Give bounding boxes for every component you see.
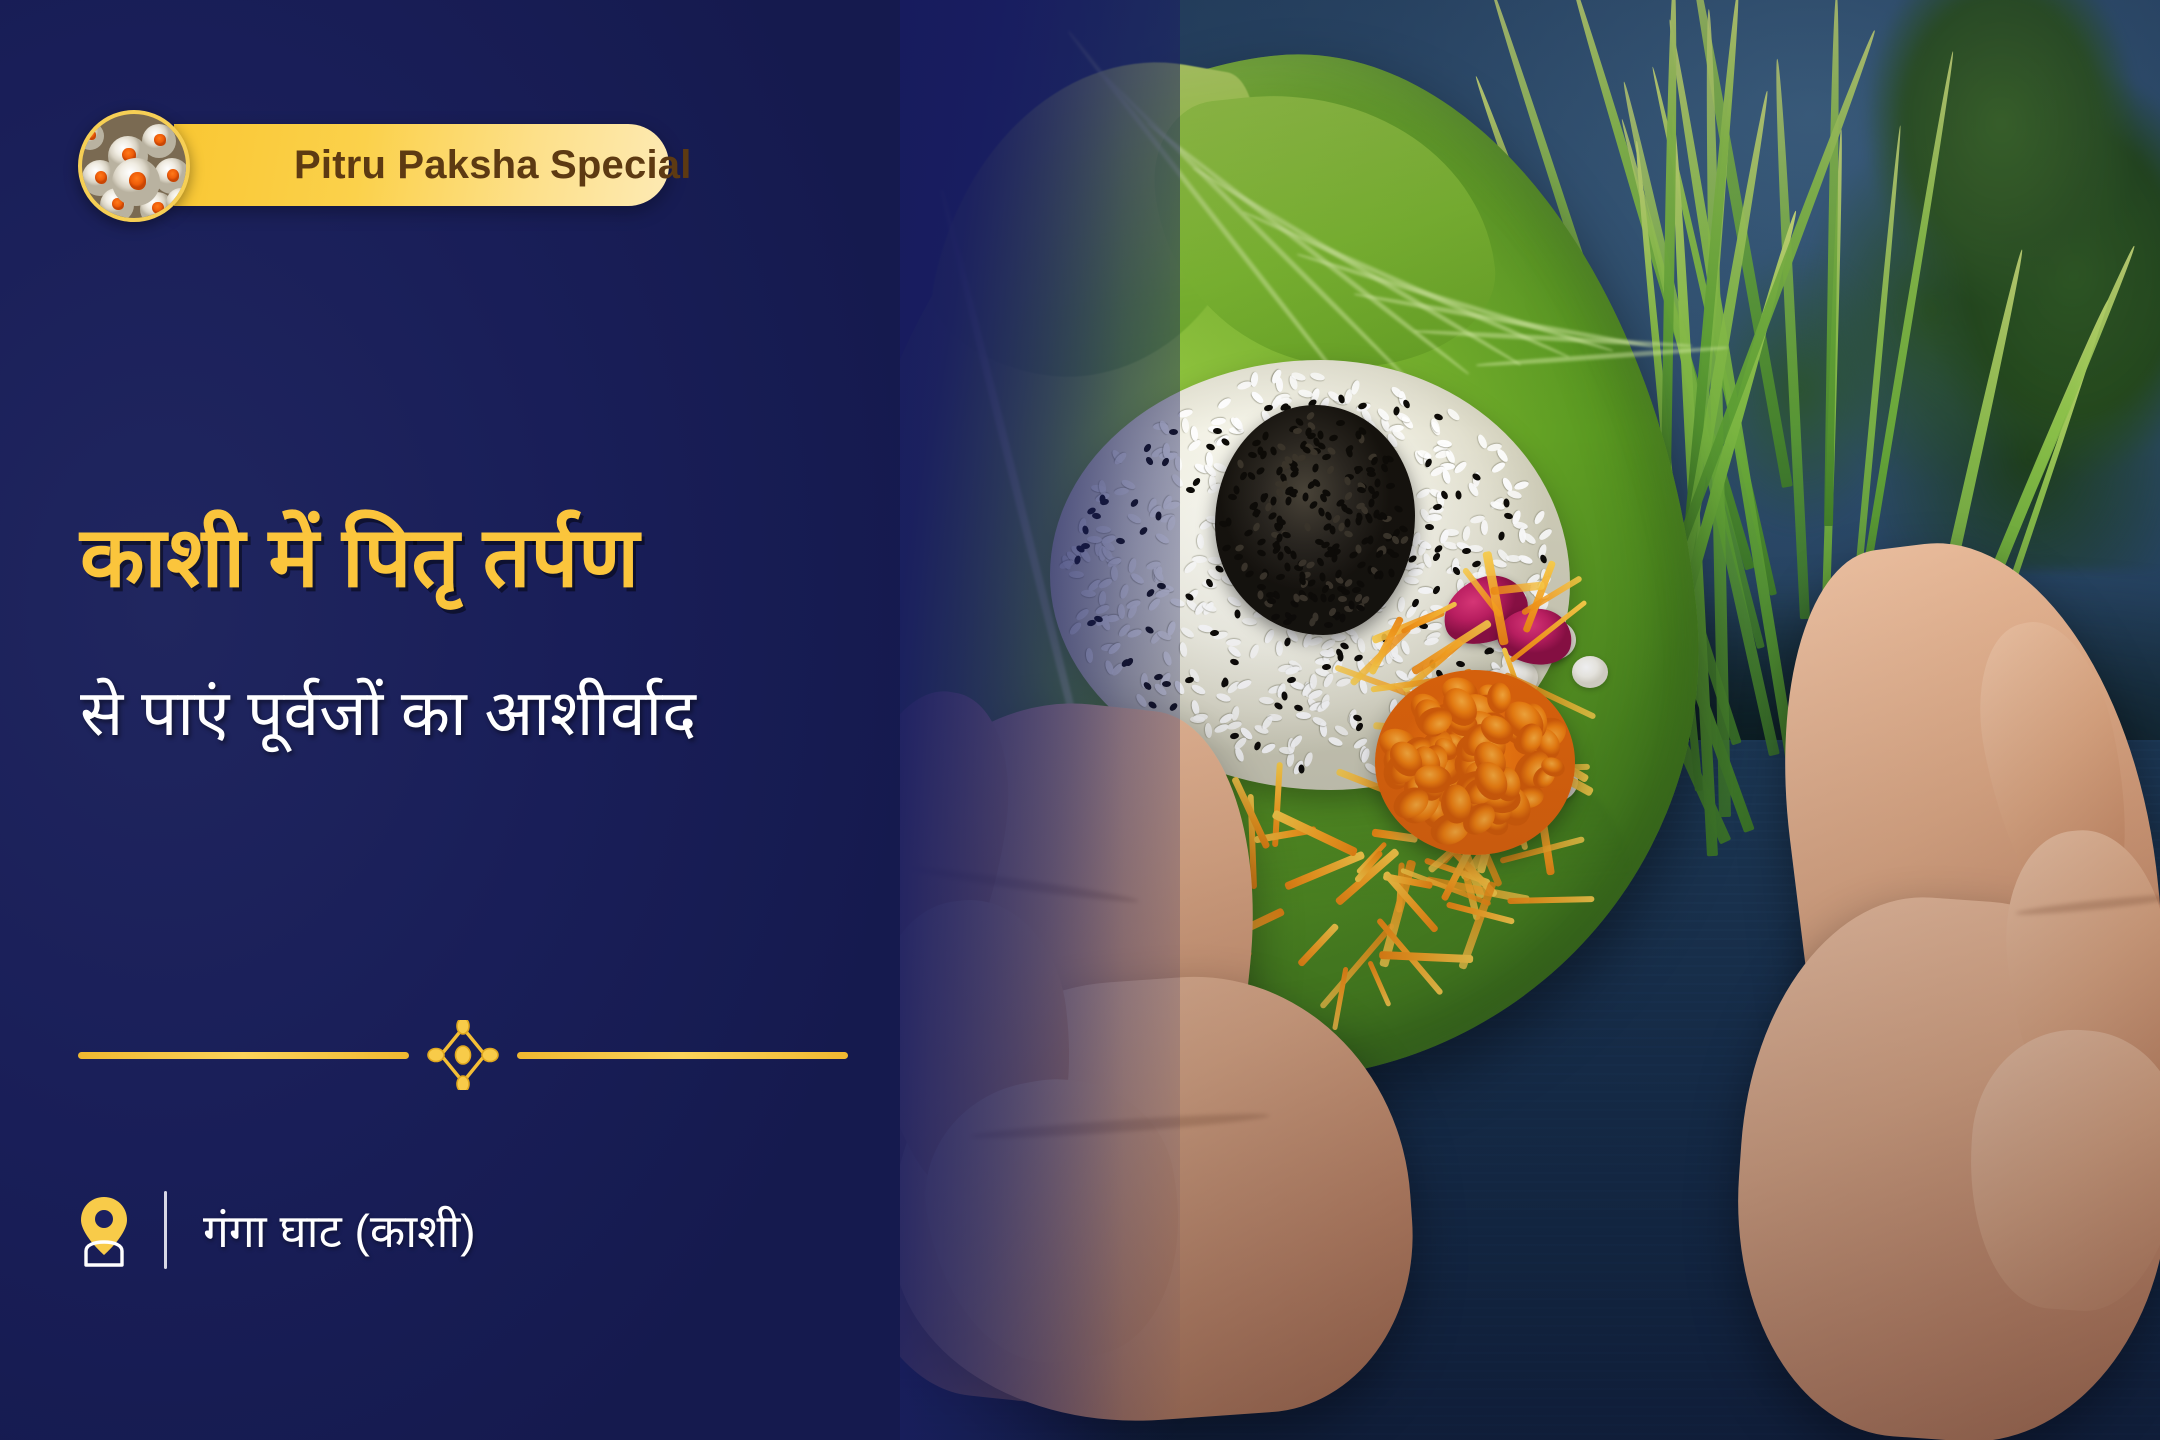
rice-grain xyxy=(1237,380,1253,391)
location-separator xyxy=(164,1191,167,1269)
sesame-seed xyxy=(1293,427,1303,434)
location-label: गंगा घाट (काशी) xyxy=(203,1199,476,1261)
rice-grain xyxy=(1513,480,1529,491)
sesame-seed xyxy=(1285,496,1293,506)
location-pin-svg xyxy=(78,1193,130,1267)
rice-grain xyxy=(1327,735,1344,747)
sesame-seed xyxy=(1319,572,1326,582)
rice-grain xyxy=(1226,595,1242,609)
sesame-seed-scattered xyxy=(1184,676,1194,684)
sesame-seed-scattered xyxy=(1462,547,1471,554)
sesame-seed xyxy=(1258,571,1269,582)
rice-grain xyxy=(1310,674,1318,689)
sesame-seed-scattered xyxy=(1433,544,1444,554)
sesame-seed xyxy=(1256,538,1267,548)
sesame-seed xyxy=(1236,459,1244,469)
sesame-seed xyxy=(1310,593,1319,604)
rice-grain xyxy=(1190,716,1205,724)
black-sesame-mound xyxy=(1215,405,1415,635)
sesame-seed xyxy=(1302,492,1309,502)
location-row: गंगा घाट (काशी) xyxy=(78,1180,476,1280)
sindoor-mark xyxy=(177,197,187,208)
sesame-seed xyxy=(1386,482,1396,490)
marigold-flower xyxy=(1375,670,1575,855)
sesame-seed-scattered xyxy=(1234,609,1241,618)
badge-label: Pitru Paksha Special xyxy=(294,143,692,188)
sesame-seed xyxy=(1243,528,1254,537)
rice-grain xyxy=(1356,638,1366,654)
sesame-seed-scattered xyxy=(1281,691,1288,701)
page-subtitle: से पाएं पूर्वजों का आशीर्वाद xyxy=(80,672,1060,755)
sesame-seed-scattered xyxy=(1283,637,1291,647)
sesame-seed xyxy=(1341,588,1351,596)
rice-grain xyxy=(1260,742,1277,755)
sesame-seed xyxy=(1269,446,1277,456)
rice-grain xyxy=(1298,388,1314,398)
sesame-seed xyxy=(1374,478,1380,487)
divider-line-right xyxy=(517,1052,848,1059)
sesame-seed xyxy=(1345,519,1351,528)
rice-grain xyxy=(1190,683,1207,696)
sesame-seed xyxy=(1348,550,1359,560)
rice-grain xyxy=(1418,587,1433,594)
sesame-seed xyxy=(1262,431,1270,441)
sesame-seed-scattered xyxy=(1263,404,1273,412)
rice-grain xyxy=(1289,734,1304,750)
sesame-seed-scattered xyxy=(1220,437,1231,447)
sesame-seed xyxy=(1306,480,1316,491)
sesame-seed xyxy=(1320,593,1328,603)
jasmine-flower xyxy=(1572,656,1608,688)
sesame-seed-scattered xyxy=(1455,660,1465,668)
rice-grain xyxy=(1343,388,1353,404)
sesame-seed-scattered xyxy=(1222,677,1229,687)
sesame-seed xyxy=(1324,511,1333,522)
sesame-seed xyxy=(1316,557,1326,568)
rice-grain xyxy=(1506,555,1521,563)
sesame-seed xyxy=(1244,570,1255,580)
sesame-seed xyxy=(1303,522,1312,532)
sesame-seed xyxy=(1311,463,1319,473)
marigold-petal xyxy=(1487,682,1511,713)
rice-grain xyxy=(1217,397,1233,411)
sesame-seed xyxy=(1317,430,1324,440)
rice-grain xyxy=(1537,527,1553,542)
rice-grain xyxy=(1310,371,1326,382)
sindoor-mark xyxy=(167,169,179,182)
sesame-seed xyxy=(1238,471,1248,482)
sesame-seed-scattered xyxy=(1503,498,1510,508)
rice-grain xyxy=(1261,714,1275,730)
sindoor-mark xyxy=(152,202,164,214)
rice-grain xyxy=(1210,417,1226,426)
rice-grain xyxy=(1263,628,1276,645)
sesame-seed xyxy=(1305,411,1316,422)
sesame-seed-scattered xyxy=(1402,398,1411,409)
sesame-seed xyxy=(1339,613,1346,623)
sesame-seed-scattered xyxy=(1425,524,1435,531)
sesame-seed-scattered xyxy=(1411,597,1421,608)
sesame-seed xyxy=(1317,507,1325,517)
sesame-seed-scattered xyxy=(1432,585,1442,596)
rice-grain xyxy=(1400,639,1412,656)
sesame-seed-scattered xyxy=(1455,490,1462,500)
sesame-seed xyxy=(1388,568,1396,578)
sesame-seed xyxy=(1252,521,1261,532)
sesame-seed xyxy=(1393,504,1404,514)
sesame-seed xyxy=(1343,529,1354,538)
diamond-ornament-icon xyxy=(409,1020,517,1090)
pitru-paksha-banner: Pitru Paksha Special काशी में पितृ तर्पण… xyxy=(0,0,2160,1440)
sesame-seed xyxy=(1312,613,1319,622)
sesame-seed xyxy=(1338,596,1347,602)
sesame-seed xyxy=(1326,592,1336,603)
rice-grain xyxy=(1376,407,1391,423)
rice-grain xyxy=(1490,461,1506,475)
rice-grain xyxy=(1403,575,1419,584)
sesame-seed xyxy=(1275,573,1285,581)
rice-grain xyxy=(1462,526,1472,542)
sesame-seed xyxy=(1260,493,1267,503)
sesame-seed xyxy=(1366,471,1375,478)
sesame-seed-scattered xyxy=(1213,428,1222,435)
rice-grain xyxy=(1481,520,1488,535)
sesame-seed xyxy=(1234,544,1245,553)
rice-grain xyxy=(1192,555,1207,562)
rice-grain xyxy=(1196,534,1204,549)
sesame-seed-scattered xyxy=(1185,487,1195,494)
sesame-seed xyxy=(1324,622,1333,628)
sesame-seed xyxy=(1256,548,1267,557)
rice-grain xyxy=(1335,677,1351,688)
sindoor-mark xyxy=(86,130,96,140)
rice-grain xyxy=(1446,406,1462,421)
sesame-seed xyxy=(1266,592,1275,598)
sesame-seed xyxy=(1356,561,1367,570)
sesame-seed xyxy=(1329,525,1336,535)
sesame-seed xyxy=(1336,420,1345,427)
rice-grain xyxy=(1204,723,1212,739)
rice-grain xyxy=(1180,625,1196,639)
sesame-seed xyxy=(1379,463,1389,474)
rice-grain xyxy=(1415,487,1432,500)
pinda-offering-thumbnail-icon xyxy=(78,110,190,222)
sesame-seed xyxy=(1247,451,1257,459)
rice-grain xyxy=(1296,711,1311,719)
sindoor-mark xyxy=(95,171,107,184)
sesame-seed xyxy=(1348,600,1355,610)
location-pin-icon xyxy=(78,1193,130,1267)
sesame-seed xyxy=(1246,471,1257,482)
rice-grain xyxy=(1333,723,1349,737)
rice-grain xyxy=(1190,426,1199,442)
rice-grain xyxy=(1506,489,1522,500)
rice-grain xyxy=(1320,693,1331,709)
sesame-seed xyxy=(1343,577,1354,588)
sesame-seed-scattered xyxy=(1229,733,1239,741)
rice-grain xyxy=(1311,715,1328,728)
rice-grain xyxy=(1249,643,1261,660)
sesame-seed xyxy=(1233,485,1240,495)
special-badge[interactable]: Pitru Paksha Special xyxy=(174,124,669,206)
rice-grain xyxy=(1319,649,1334,657)
sesame-seed xyxy=(1257,590,1264,599)
sesame-seed xyxy=(1343,506,1354,515)
sindoor-mark xyxy=(129,172,145,189)
rice-grain xyxy=(1397,597,1405,613)
rice-grain xyxy=(1249,389,1265,404)
divider-line-left xyxy=(78,1052,409,1059)
sesame-seed xyxy=(1326,465,1336,476)
rice-grain xyxy=(1181,417,1189,433)
sesame-seed xyxy=(1222,543,1233,552)
sesame-seed xyxy=(1233,553,1243,561)
rice-grain xyxy=(1276,641,1283,656)
rice-grain xyxy=(1258,696,1274,705)
rice-grain xyxy=(1236,678,1253,691)
sesame-seed xyxy=(1284,562,1292,572)
rice-grain xyxy=(1518,528,1526,543)
sindoor-mark xyxy=(154,134,166,146)
sesame-seed xyxy=(1270,496,1277,506)
sesame-seed-scattered xyxy=(1192,476,1202,487)
sesame-seed-scattered xyxy=(1539,554,1548,565)
sesame-seed-scattered xyxy=(1230,658,1240,666)
sesame-seed-scattered xyxy=(1498,531,1506,541)
sesame-seed xyxy=(1277,442,1288,452)
rice-grain xyxy=(1427,622,1443,631)
sesame-seed-scattered xyxy=(1293,703,1303,712)
sesame-seed xyxy=(1399,535,1410,546)
sesame-seed xyxy=(1255,466,1266,476)
page-title: काशी में पितृ तर्पण xyxy=(80,508,1000,607)
sesame-seed xyxy=(1356,486,1366,494)
rice-grain xyxy=(1213,722,1230,734)
sesame-seed-scattered xyxy=(1483,646,1494,656)
rice-grain xyxy=(1533,509,1547,525)
rice-grain xyxy=(1215,692,1231,703)
rice-grain xyxy=(1250,372,1259,388)
sesame-seed xyxy=(1289,550,1298,560)
diamond-ornament-svg xyxy=(409,1020,517,1090)
sesame-seed xyxy=(1390,535,1400,546)
decorative-divider xyxy=(78,1020,848,1090)
rice-grain xyxy=(1302,751,1314,767)
rice-grain xyxy=(1242,617,1258,626)
rice-grain xyxy=(1227,644,1243,659)
sesame-seed xyxy=(1270,612,1280,621)
sesame-seed xyxy=(1277,551,1284,561)
sesame-seed xyxy=(1328,434,1338,443)
sesame-seed-scattered xyxy=(1273,701,1284,711)
sesame-seed xyxy=(1281,531,1291,540)
